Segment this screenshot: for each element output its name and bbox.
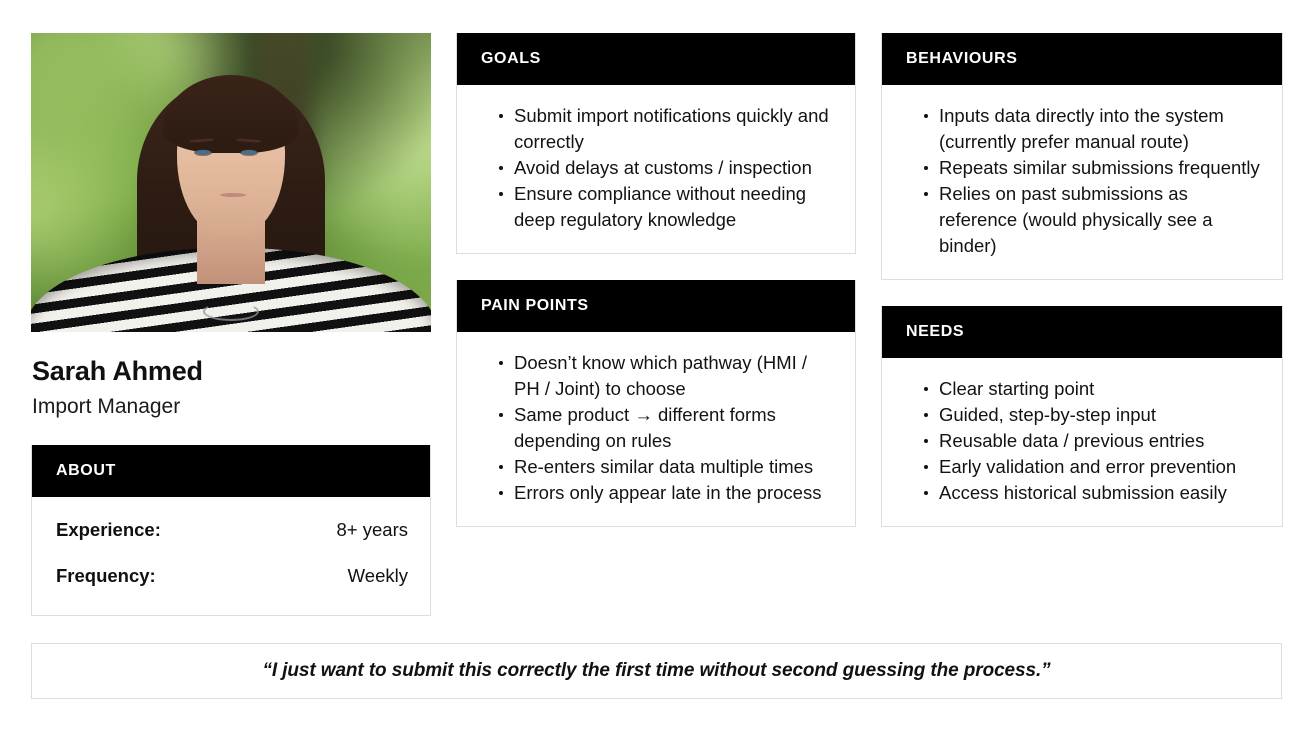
persona-columns: Sarah Ahmed Import Manager ABOUT Experie… (31, 33, 1283, 616)
list-item: Clear starting point (924, 376, 1260, 402)
goals-list: Submit import notifications quickly and … (479, 103, 833, 233)
left-column: Sarah Ahmed Import Manager ABOUT Experie… (31, 33, 431, 616)
list-item: Ensure compliance without needing deep r… (499, 181, 833, 233)
about-label-experience: Experience: (56, 517, 161, 543)
goals-card-body: Submit import notifications quickly and … (457, 85, 855, 253)
about-row-frequency: Frequency: Weekly (56, 563, 408, 589)
behaviours-card-body: Inputs data directly into the system (cu… (882, 85, 1282, 279)
pain-points-card-title: PAIN POINTS (457, 280, 855, 332)
persona-card-page: Sarah Ahmed Import Manager ABOUT Experie… (0, 0, 1312, 752)
behaviours-card: BEHAVIOURS Inputs data directly into the… (881, 33, 1283, 280)
needs-card-title: NEEDS (882, 306, 1282, 358)
about-value-experience: 8+ years (337, 517, 408, 543)
subject-eye-right (241, 150, 257, 156)
pain-points-list: Doesn’t know which pathway (HMI / PH / J… (479, 350, 833, 506)
behaviours-list: Inputs data directly into the system (cu… (904, 103, 1260, 259)
goals-card: GOALS Submit import notifications quickl… (456, 33, 856, 254)
list-item: Errors only appear late in the process (499, 480, 833, 506)
subject-fringe (163, 75, 299, 153)
list-item: Avoid delays at customs / inspection (499, 155, 833, 181)
behaviours-card-title: BEHAVIOURS (882, 33, 1282, 85)
photo-subject (31, 33, 431, 332)
needs-card: NEEDS Clear starting point Guided, step-… (881, 306, 1283, 527)
list-item: Submit import notifications quickly and … (499, 103, 833, 155)
subject-necklace (203, 302, 259, 321)
right-column: BEHAVIOURS Inputs data directly into the… (881, 33, 1283, 527)
list-item: Re-enters similar data multiple times (499, 454, 833, 480)
list-item: Access historical submission easily (924, 480, 1260, 506)
list-item: Reusable data / previous entries (924, 428, 1260, 454)
about-label-frequency: Frequency: (56, 563, 156, 589)
pain-points-card-body: Doesn’t know which pathway (HMI / PH / J… (457, 332, 855, 526)
about-card-title: ABOUT (32, 445, 430, 497)
about-card: ABOUT Experience: 8+ years Frequency: We… (31, 445, 431, 616)
needs-list: Clear starting point Guided, step-by-ste… (904, 376, 1260, 506)
middle-column: GOALS Submit import notifications quickl… (456, 33, 856, 527)
pain-points-card: PAIN POINTS Doesn’t know which pathway (… (456, 280, 856, 527)
persona-name: Sarah Ahmed (32, 357, 431, 387)
persona-photo (31, 33, 431, 332)
list-item: Guided, step-by-step input (924, 402, 1260, 428)
list-item: Doesn’t know which pathway (HMI / PH / J… (499, 350, 833, 402)
persona-quote-banner: “I just want to submit this correctly th… (31, 643, 1282, 699)
persona-quote-text: “I just want to submit this correctly th… (262, 660, 1050, 682)
needs-card-body: Clear starting point Guided, step-by-ste… (882, 358, 1282, 526)
about-value-frequency: Weekly (348, 563, 408, 589)
list-item: Inputs data directly into the system (cu… (924, 103, 1260, 155)
about-row-experience: Experience: 8+ years (56, 517, 408, 543)
list-item: Repeats similar submissions frequently (924, 155, 1260, 181)
list-item: Same product → different forms depending… (499, 402, 833, 454)
goals-card-title: GOALS (457, 33, 855, 85)
about-card-body: Experience: 8+ years Frequency: Weekly (32, 497, 430, 615)
persona-role: Import Manager (32, 394, 431, 419)
list-item: Early validation and error prevention (924, 454, 1260, 480)
list-item: Relies on past submissions as reference … (924, 181, 1260, 259)
